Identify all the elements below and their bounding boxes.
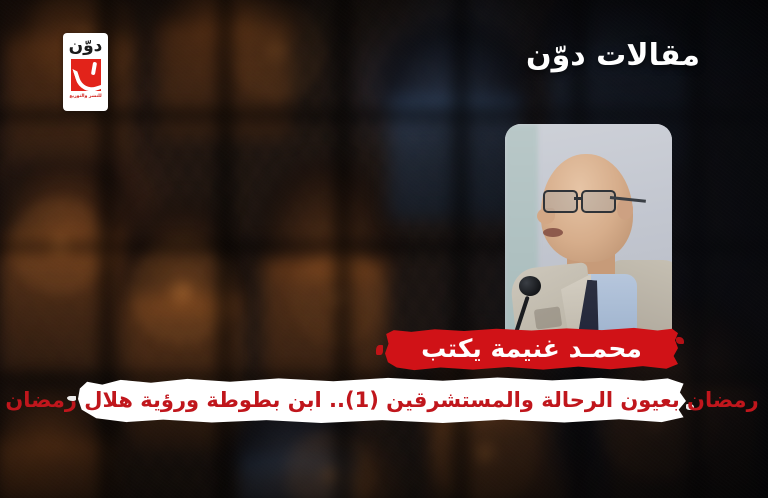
mouth: [543, 228, 563, 237]
author-banner-fleck: [376, 345, 383, 355]
ear: [617, 198, 633, 220]
author-banner: محمـد غنيمة يكتب: [385, 327, 678, 371]
author-photo: [505, 124, 672, 336]
title-banner: رمضان بعيون الرحالة والمستشرقين (1).. اب…: [78, 376, 686, 424]
eyeglasses-icon: [543, 190, 619, 209]
article-cover-poster: دوّن للنشر والتوزيع مقالات دوّن: [0, 0, 768, 498]
brand-logo[interactable]: دوّن للنشر والتوزيع: [63, 33, 108, 111]
brand-logo-wordmark: دوّن: [69, 38, 103, 55]
author-name-text: محمـد غنيمة يكتب: [385, 327, 678, 371]
microphone-icon: [519, 276, 541, 296]
section-label: مقالات دوّن: [526, 38, 700, 74]
article-title-text: رمضان بعيون الرحالة والمستشرقين (1).. اب…: [78, 376, 686, 424]
brand-logo-tagline: للنشر والتوزيع: [69, 94, 101, 99]
red-swoosh-mark-icon: [71, 59, 101, 91]
